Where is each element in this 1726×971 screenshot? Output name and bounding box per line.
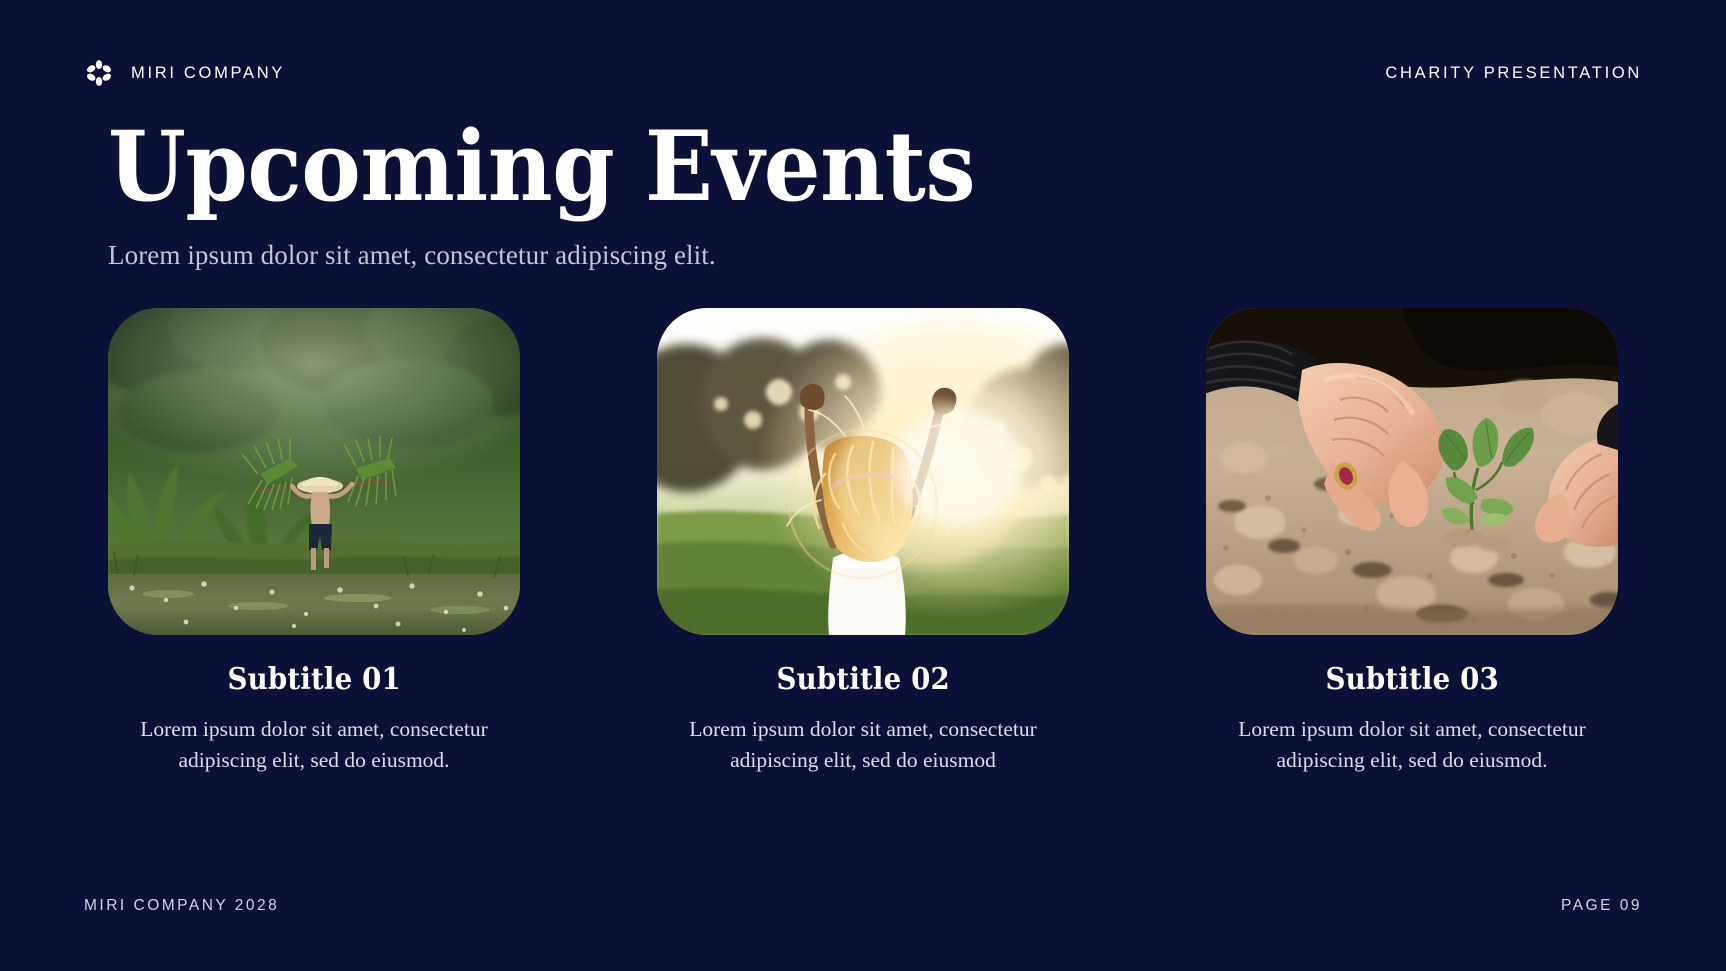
page-subtitle: Lorem ipsum dolor sit amet, consectetur … <box>108 240 1040 271</box>
event-card-list: Subtitle 01 Lorem ipsum dolor sit amet, … <box>108 308 1618 775</box>
event-card[interactable]: Subtitle 01 Lorem ipsum dolor sit amet, … <box>108 308 520 775</box>
card-title: Subtitle 03 <box>1325 662 1498 697</box>
page-title: Upcoming Events <box>108 118 975 216</box>
card-body: Lorem ipsum dolor sit amet, consectetur … <box>648 714 1078 775</box>
asterisk-flower-logo-icon <box>84 58 114 88</box>
slide-footer: MIRI COMPANY 2028 PAGE 09 <box>84 897 1642 915</box>
footer-page-number: PAGE 09 <box>1561 897 1642 915</box>
event-card[interactable]: Subtitle 02 Lorem ipsum dolor sit amet, … <box>657 308 1069 775</box>
girl-arms-raised-sunset-field-photo <box>657 308 1069 635</box>
presentation-slide: MIRI COMPANY CHARITY PRESENTATION Upcomi… <box>0 0 1726 971</box>
card-title: Subtitle 02 <box>776 662 949 697</box>
header-eyebrow: CHARITY PRESENTATION <box>1385 64 1642 83</box>
event-card[interactable]: Subtitle 03 Lorem ipsum dolor sit amet, … <box>1206 308 1618 775</box>
title-block: Upcoming Events Lorem ipsum dolor sit am… <box>108 118 1040 271</box>
footer-company: MIRI COMPANY 2028 <box>84 897 279 915</box>
card-body: Lorem ipsum dolor sit amet, consectetur … <box>1197 714 1627 775</box>
card-body: Lorem ipsum dolor sit amet, consectetur … <box>99 714 529 775</box>
brand-name: MIRI COMPANY <box>131 64 285 83</box>
slide-header: MIRI COMPANY CHARITY PRESENTATION <box>84 58 1642 88</box>
farmer-carrying-rice-seedlings-photo <box>108 308 520 635</box>
hands-planting-seedling-in-soil-photo <box>1206 308 1618 635</box>
card-title: Subtitle 01 <box>227 662 400 697</box>
brand-lockup[interactable]: MIRI COMPANY <box>84 58 285 88</box>
